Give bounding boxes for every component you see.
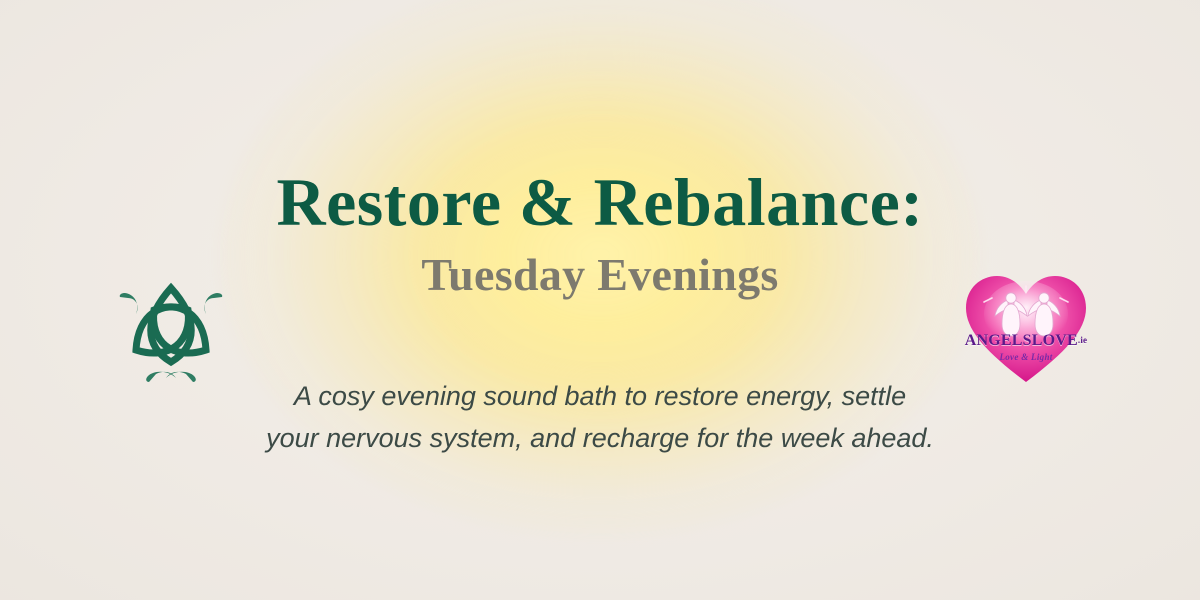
- banner-text-block: Restore & Rebalance: Tuesday Evenings A …: [0, 0, 1200, 600]
- event-description-line-2: your nervous system, and recharge for th…: [266, 418, 934, 460]
- event-banner: ANGELSLOVE.ie Love & Light Restore & Reb…: [0, 0, 1200, 600]
- event-description: A cosy evening sound bath to restore ene…: [266, 376, 934, 460]
- event-description-line-1: A cosy evening sound bath to restore ene…: [266, 376, 934, 418]
- event-title: Restore & Rebalance:: [276, 168, 923, 236]
- event-subtitle: Tuesday Evenings: [421, 252, 778, 298]
